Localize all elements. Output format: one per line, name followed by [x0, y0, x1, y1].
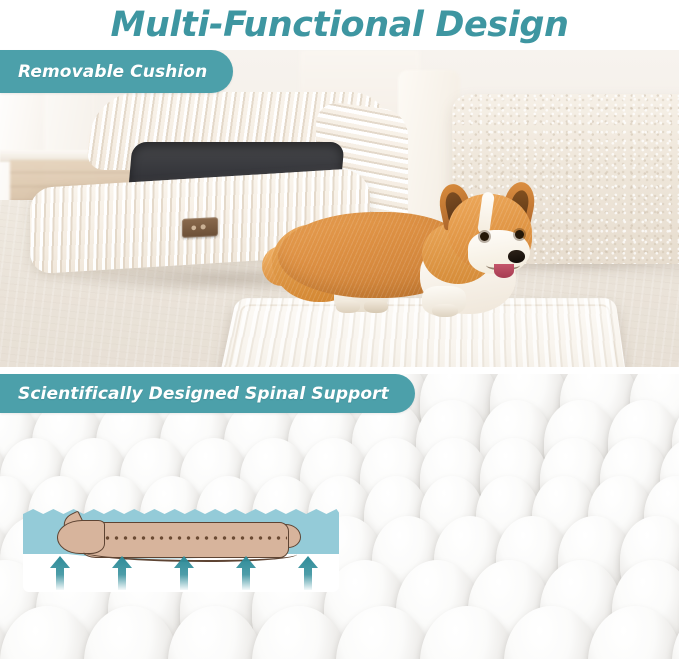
corgi-eye-left — [480, 232, 489, 241]
corgi-paw — [432, 304, 458, 317]
headline-bar: Multi-Functional Design — [0, 0, 679, 50]
badge-removable-cushion: Removable Cushion — [0, 50, 233, 93]
badge-removable-cushion-label: Removable Cushion — [18, 62, 207, 82]
panel-divider — [0, 367, 679, 374]
spinal-support-diagram — [23, 516, 339, 592]
product-feature-image: Multi-Functional Design — [0, 0, 679, 659]
spine-dots — [103, 536, 287, 540]
support-arrow — [111, 556, 133, 590]
corgi-paw — [336, 300, 360, 313]
corgi-paw — [364, 300, 388, 313]
support-arrow — [49, 556, 71, 590]
badge-spinal-support: Scientifically Designed Spinal Support — [0, 374, 415, 413]
corgi-nose — [508, 250, 525, 263]
corgi-eye-right — [515, 230, 524, 239]
page-title: Multi-Functional Design — [110, 5, 568, 45]
brand-logo-icon — [182, 217, 218, 238]
support-arrow — [173, 556, 195, 590]
panel-removable-cushion — [0, 50, 679, 367]
support-arrow-row — [23, 550, 339, 590]
badge-spinal-support-label: Scientifically Designed Spinal Support — [18, 384, 389, 404]
support-arrow — [235, 556, 257, 590]
support-arrow — [297, 556, 319, 590]
corgi-tongue — [494, 264, 514, 278]
room-scene — [0, 50, 679, 367]
corgi-dog — [272, 188, 540, 324]
